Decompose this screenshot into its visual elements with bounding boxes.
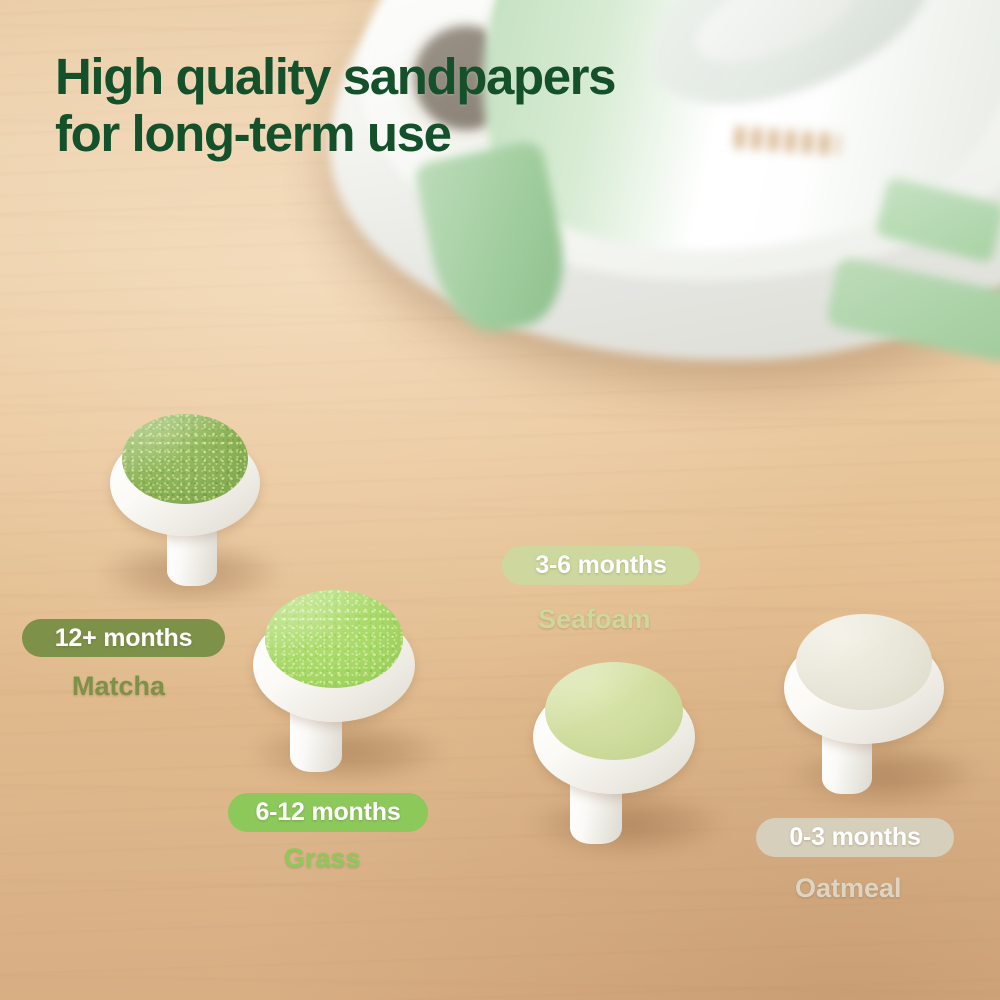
shade-label: Seafoam <box>538 604 651 634</box>
badge-0-3-months: 0-3 months <box>756 818 954 857</box>
shade-name-matcha: Matcha <box>72 671 165 702</box>
badge-label: 12+ months <box>55 624 193 653</box>
attachment-sandpaper-pad <box>122 414 248 504</box>
headline-line-1: High quality sandpapers <box>55 48 615 105</box>
shade-name-seafoam: Seafoam <box>538 604 651 635</box>
attachment-shadow <box>248 718 448 786</box>
badge-3-6-months: 3-6 months <box>502 546 700 585</box>
badge-6-12-months: 6-12 months <box>228 793 428 832</box>
badge-label: 6-12 months <box>255 798 400 827</box>
shade-name-grass: Grass <box>284 843 361 874</box>
attachment-sandpaper-pad <box>265 590 403 688</box>
shade-label: Grass <box>284 843 361 873</box>
product-marketing-image: High quality sandpapers for long-term us… <box>0 0 1000 1000</box>
badge-label: 0-3 months <box>789 823 920 852</box>
shade-label: Matcha <box>72 671 165 701</box>
attachment-sandpaper-pad <box>796 614 932 710</box>
attachment-sandpaper-pad <box>545 662 683 760</box>
headline-line-2: for long-term use <box>55 105 615 162</box>
shade-name-oatmeal: Oatmeal <box>795 873 902 904</box>
page-headline: High quality sandpapers for long-term us… <box>55 48 615 162</box>
attachment-shadow <box>786 742 982 808</box>
attachment-shadow <box>528 790 728 858</box>
badge-label: 3-6 months <box>535 551 666 580</box>
shade-label: Oatmeal <box>795 873 902 903</box>
badge-12-plus-months: 12+ months <box>22 619 225 657</box>
